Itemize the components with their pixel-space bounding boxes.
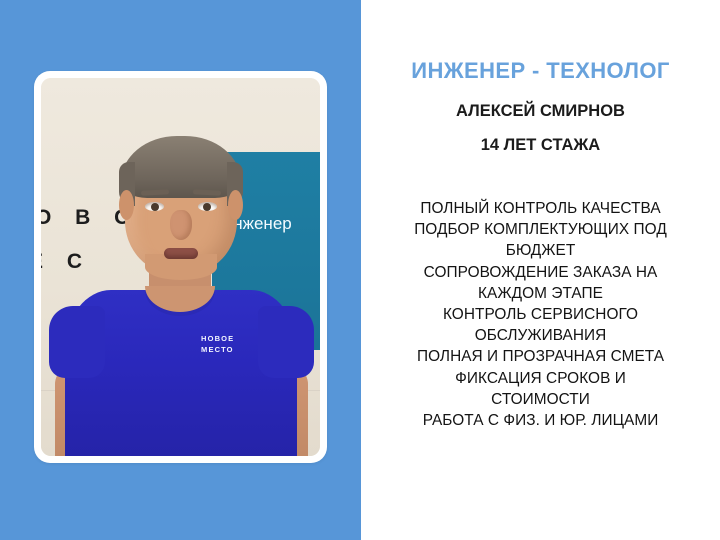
text-panel: ИНЖЕНЕР - ТЕХНОЛОГ АЛЕКСЕЙ СМИРНОВ 14 ЛЕ… [361,0,720,540]
sleeve-right [258,306,314,378]
list-item: КАЖДОМ ЭТАПЕ [367,283,714,304]
list-item: ПОЛНЫЙ КОНТРОЛЬ КАЧЕСТВА [367,198,714,219]
listing-image-card: Инженер О В О Е С [0,0,720,540]
employee-photo: Инженер О В О Е С [41,78,320,456]
experience-label: 14 ЛЕТ СТАЖА [361,135,720,155]
list-item: ОБСЛУЖИВАНИЯ [367,325,714,346]
avito-watermark: Avito [621,497,706,522]
person-name: АЛЕКСЕЙ СМИРНОВ [361,101,720,121]
list-item: СТОИМОСТИ [367,389,714,410]
list-item: СОПРОВОЖДЕНИЕ ЗАКАЗА НА [367,262,714,283]
avito-watermark-label: Avito [647,497,706,522]
person-portrait: НОВОЕ МЕСТО [41,78,320,456]
ear-right [228,190,243,220]
page-title: ИНЖЕНЕР - ТЕХНОЛОГ [361,58,720,84]
sleeve-left [49,306,105,378]
list-item: ФИКСАЦИЯ СРОКОВ И [367,368,714,389]
tshirt-logo-line-1: НОВОЕ [201,334,261,345]
nose [170,210,192,240]
list-item: ПОЛНАЯ И ПРОЗРАЧНАЯ СМЕТА [367,346,714,367]
hair [121,136,241,198]
tshirt-logo: НОВОЕ МЕСТО [201,334,261,355]
mouth [164,248,198,259]
benefits-list: ПОЛНЫЙ КОНТРОЛЬ КАЧЕСТВА ПОДБОР КОМПЛЕКТ… [367,198,714,431]
list-item: БЮДЖЕТ [367,240,714,261]
tshirt-logo-line-2: МЕСТО [201,345,261,356]
avito-dots-icon [621,500,643,520]
headings-block: ИНЖЕНЕР - ТЕХНОЛОГ АЛЕКСЕЙ СМИРНОВ 14 ЛЕ… [361,58,720,155]
list-item: РАБОТА С ФИЗ. И ЮР. ЛИЦАМИ [367,410,714,431]
list-item: ПОДБОР КОМПЛЕКТУЮЩИХ ПОД [367,219,714,240]
pupil-right [203,203,211,211]
ear-left [119,190,134,220]
pupil-left [151,203,159,211]
photo-frame: Инженер О В О Е С [34,71,327,463]
list-item: КОНТРОЛЬ СЕРВИСНОГО [367,304,714,325]
